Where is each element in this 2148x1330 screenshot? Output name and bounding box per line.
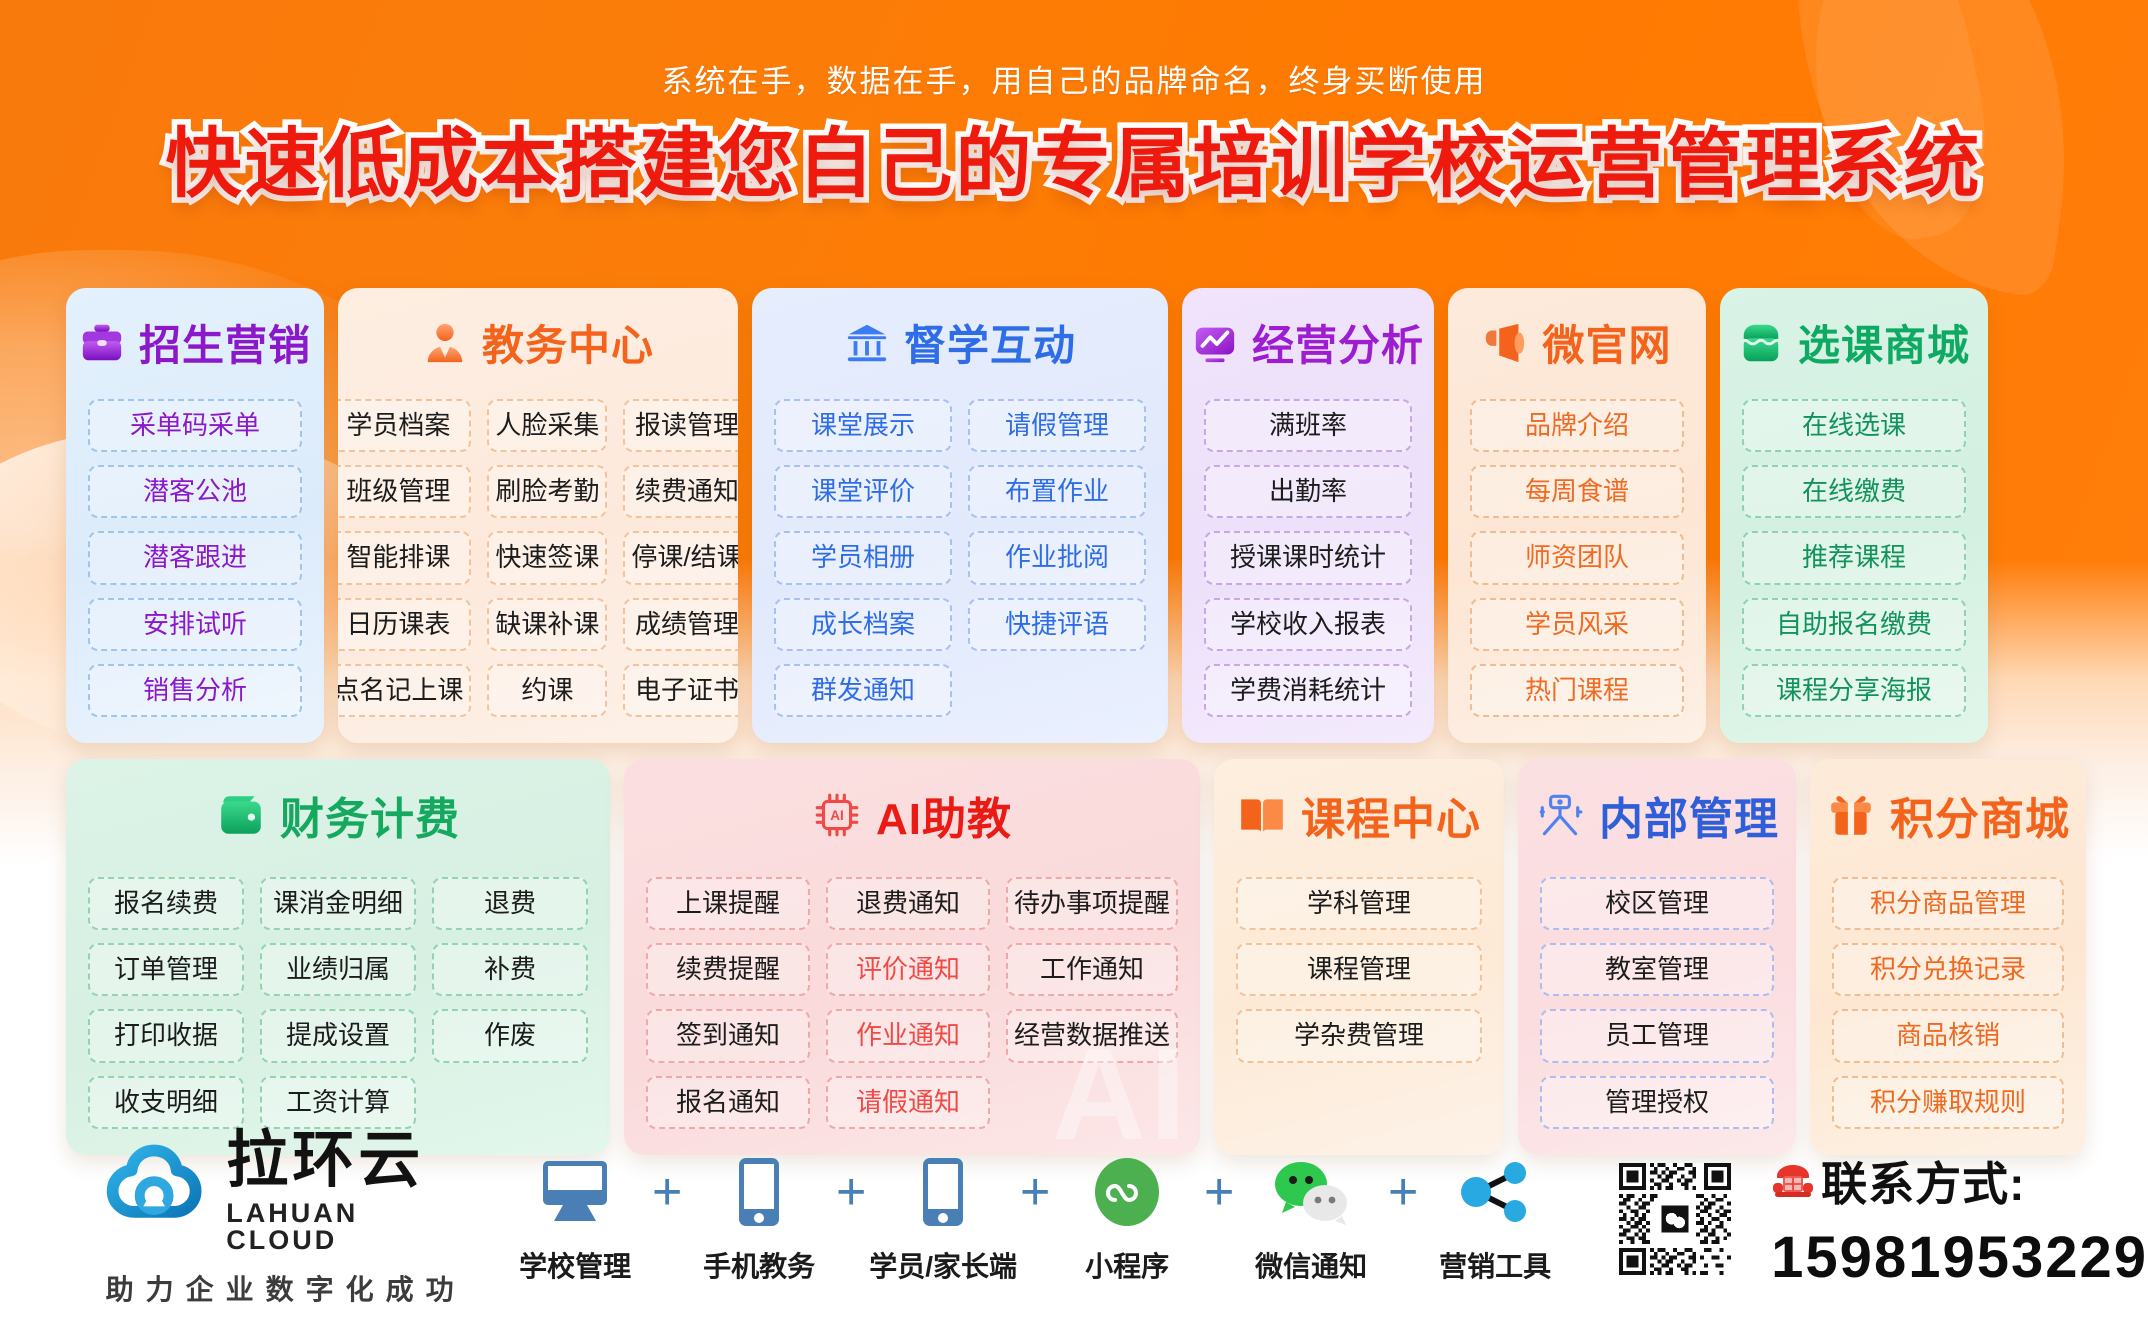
feature-chip[interactable]: 校区管理 (1540, 877, 1774, 930)
feature-chip[interactable]: 课堂展示 (774, 399, 952, 452)
card-column: 上课提醒 续费提醒 签到通知 报名通知 (646, 877, 810, 1129)
teacher-icon (422, 320, 468, 366)
chart-icon (1192, 320, 1238, 366)
platform-label: 微信通知 (1255, 1245, 1367, 1285)
card-academic[interactable]: 教务中心 学员档案 班级管理 智能排课 日历课表 点名记上课 人脸采集 刷脸考勤… (338, 288, 738, 743)
card-recruit[interactable]: 招生营销 采单码采单 潜客公池 潜客跟进 安排试听 销售分析 (66, 288, 324, 743)
card-columns: 满班率 出勤率 授课课时统计 学校收入报表 学费消耗统计 (1204, 399, 1412, 717)
feature-chip[interactable]: 学员相册 (774, 531, 952, 584)
contact-text: 联系方式: 15981953229 (1771, 1148, 2148, 1291)
platform-item-wechat-notify: 微信通知 (1247, 1153, 1375, 1285)
platform-item-student-parent: 学员/家长端 (879, 1153, 1007, 1285)
card-column: 积分商品管理 积分兑换记录 商品核销 积分赚取规则 (1832, 877, 2064, 1129)
card-columns: 课堂展示 课堂评价 学员相册 成长档案 群发通知 请假管理 布置作业 作业批阅 … (774, 399, 1146, 717)
feature-chip[interactable]: 作废 (432, 1009, 588, 1062)
feature-chip[interactable]: 退费 (432, 877, 588, 930)
card-column: 待办事项提醒 工作通知 经营数据推送 (1006, 877, 1178, 1129)
telephone-icon (1771, 1159, 1815, 1203)
poster-root: 系统在手，数据在手，用自己的品牌命名，终身买断使用 快速低成本搭建您自己的专属培… (0, 0, 2148, 1330)
feature-chip[interactable]: 积分商品管理 (1832, 877, 2064, 930)
phone-icon (737, 1153, 781, 1231)
feature-chip[interactable]: 约课 (487, 664, 607, 717)
feature-chip[interactable]: 学杂费管理 (1236, 1009, 1482, 1062)
card-columns: 校区管理 教室管理 员工管理 管理授权 (1540, 877, 1774, 1129)
card-title: 督学互动 (904, 312, 1076, 373)
header-title: 快速低成本搭建您自己的专属培训学校运营管理系统 (0, 123, 2148, 207)
platform-label: 学员/家长端 (869, 1245, 1017, 1285)
feature-chip[interactable]: 人脸采集 (487, 399, 607, 452)
brand-block: 拉环云 LAHUAN CLOUD 助力企业数字化成功 (100, 1130, 471, 1308)
card-columns: 品牌介绍 每周食谱 师资团队 学员风采 热门课程 (1470, 399, 1684, 717)
card-column: 学科管理 课程管理 学杂费管理 (1236, 877, 1482, 1129)
feature-chip[interactable]: 布置作业 (968, 465, 1146, 518)
feature-chip[interactable]: 成绩管理 (623, 598, 738, 651)
card-course-center[interactable]: 课程中心 学科管理 课程管理 学杂费管理 (1214, 759, 1504, 1155)
feature-chip[interactable]: 商品核销 (1832, 1009, 2064, 1062)
platform-label: 学校管理 (519, 1245, 631, 1285)
feature-chip[interactable]: 续费通知 (623, 465, 738, 518)
card-header: 微官网 (1470, 312, 1684, 373)
feature-chip[interactable]: 员工管理 (1540, 1009, 1774, 1062)
card-title: 微官网 (1542, 312, 1671, 373)
feature-chip[interactable]: 课堂评价 (774, 465, 952, 518)
platform-item-school-management: 学校管理 (511, 1153, 639, 1285)
book-icon (1237, 790, 1287, 840)
card-columns: 采单码采单 潜客公池 潜客跟进 安排试听 销售分析 (88, 399, 302, 717)
brand-text: 拉环云 LAHUAN CLOUD (226, 1130, 471, 1254)
feature-chip[interactable]: 销售分析 (88, 664, 302, 717)
feature-chip[interactable]: 评价通知 (826, 943, 990, 996)
feature-chip[interactable]: 在线缴费 (1742, 465, 1966, 518)
feature-chip[interactable]: 在线选课 (1742, 399, 1966, 452)
card-columns: 积分商品管理 积分兑换记录 商品核销 积分赚取规则 (1832, 877, 2064, 1129)
feature-chip[interactable]: 学科管理 (1236, 877, 1482, 930)
feature-chip[interactable]: 热门课程 (1470, 664, 1684, 717)
share-icon (1457, 1153, 1533, 1231)
card-column: 品牌介绍 每周食谱 师资团队 学员风采 热门课程 (1470, 399, 1684, 717)
wechat-qr-code[interactable] (1619, 1163, 1731, 1275)
card-columns: 上课提醒 续费提醒 签到通知 报名通知 退费通知 评价通知 作业通知 请假通知 … (646, 877, 1178, 1129)
card-header: 督学互动 (774, 312, 1146, 373)
feature-chip[interactable]: 课程分享海报 (1742, 664, 1966, 717)
brand-name-cn: 拉环云 (226, 1130, 471, 1192)
card-header: 财务计费 (88, 783, 588, 847)
gift-icon (1826, 790, 1876, 840)
feature-chip[interactable]: 作业通知 (826, 1009, 990, 1062)
card-analytics[interactable]: 经营分析 满班率 出勤率 授课课时统计 学校收入报表 学费消耗统计 (1182, 288, 1434, 743)
card-header: 内部管理 (1540, 783, 1774, 847)
feature-chip[interactable]: 积分兑换记录 (1832, 943, 2064, 996)
feature-chip[interactable]: 退费通知 (826, 877, 990, 930)
feature-chip[interactable]: 班级管理 (338, 465, 471, 518)
card-title: 经营分析 (1252, 312, 1424, 373)
megaphone-icon (1482, 320, 1528, 366)
feature-chip[interactable]: 请假管理 (968, 399, 1146, 452)
card-title: AI助教 (876, 783, 1012, 847)
card-columns: 在线选课 在线缴费 推荐课程 自助报名缴费 课程分享海报 (1742, 399, 1966, 717)
poster-footer: 拉环云 LAHUAN CLOUD 助力企业数字化成功 学校管理 + (0, 1108, 2148, 1330)
feature-chip[interactable]: 授课课时统计 (1204, 531, 1412, 584)
feature-chip[interactable]: 作业批阅 (968, 531, 1146, 584)
card-title: 积分商城 (1890, 783, 2070, 847)
feature-chip[interactable]: 群发通知 (774, 664, 952, 717)
platform-item-mobile-academic: 手机教务 (695, 1153, 823, 1285)
card-header: 选课商城 (1742, 312, 1966, 373)
feature-chip[interactable]: 潜客公池 (88, 465, 302, 518)
feature-chip[interactable]: 教室管理 (1540, 943, 1774, 996)
feature-chip[interactable]: 经营数据推送 (1006, 1009, 1178, 1062)
card-column: 学员档案 班级管理 智能排课 日历课表 点名记上课 (338, 399, 471, 717)
desktop-icon (538, 1153, 612, 1231)
card-header: 招生营销 (88, 312, 302, 373)
bank-icon (844, 320, 890, 366)
platform-item-miniprogram: 小程序 (1063, 1153, 1191, 1285)
platform-label: 手机教务 (703, 1245, 815, 1285)
feature-chip[interactable]: 补费 (432, 943, 588, 996)
card-row-2: 财务计费 报名续费 订单管理 打印收据 收支明细 课消金明细 业绩归属 提成设置… (66, 759, 2084, 1155)
plus-separator: + (1007, 1153, 1063, 1231)
card-supervision[interactable]: 督学互动 课堂展示 课堂评价 学员相册 成长档案 群发通知 请假管理 布置作业 … (752, 288, 1168, 743)
feature-chip[interactable]: 续费提醒 (646, 943, 810, 996)
wechat-icon (1270, 1153, 1352, 1231)
feature-chip[interactable]: 学费消耗统计 (1204, 664, 1412, 717)
feature-chip[interactable]: 上课提醒 (646, 877, 810, 930)
plus-separator: + (1191, 1153, 1247, 1231)
feature-chip[interactable]: 课程管理 (1236, 943, 1482, 996)
feature-chip[interactable]: 提成设置 (260, 1009, 416, 1062)
ai-chip-icon: AI (812, 790, 862, 840)
card-finance[interactable]: 财务计费 报名续费 订单管理 打印收据 收支明细 课消金明细 业绩归属 提成设置… (66, 759, 610, 1155)
plus-separator: + (1375, 1153, 1431, 1231)
feature-chip[interactable]: 电子证书 (623, 664, 738, 717)
card-header: 经营分析 (1204, 312, 1412, 373)
card-header: 教务中心 (360, 312, 716, 373)
feature-chip[interactable]: 打印收据 (88, 1009, 244, 1062)
contact-block: 联系方式: 15981953229 (1619, 1148, 2148, 1291)
feature-chip[interactable]: 采单码采单 (88, 399, 302, 452)
feature-chip[interactable]: 快速签课 (487, 531, 607, 584)
feature-chip[interactable]: 学校收入报表 (1204, 598, 1412, 651)
platform-item-marketing-tools: 营销工具 (1431, 1153, 1559, 1285)
card-title: 课程中心 (1301, 783, 1481, 847)
card-column: 满班率 出勤率 授课课时统计 学校收入报表 学费消耗统计 (1204, 399, 1412, 717)
feature-chip[interactable]: 学员档案 (338, 399, 471, 452)
feature-chip[interactable]: 自助报名缴费 (1742, 598, 1966, 651)
plus-separator: + (639, 1153, 695, 1231)
card-column: 退费通知 评价通知 作业通知 请假通知 (826, 877, 990, 1129)
contact-phone[interactable]: 15981953229 (1771, 1224, 2148, 1291)
contact-label-line: 联系方式: (1771, 1148, 2148, 1214)
phone-icon (921, 1153, 965, 1231)
card-microsite[interactable]: 微官网 品牌介绍 每周食谱 师资团队 学员风采 热门课程 (1448, 288, 1706, 743)
org-chart-icon (1535, 790, 1585, 840)
card-points-mall[interactable]: 积分商城 积分商品管理 积分兑换记录 商品核销 积分赚取规则 (1810, 759, 2086, 1155)
card-column: 校区管理 教室管理 员工管理 管理授权 (1540, 877, 1774, 1129)
card-column: 人脸采集 刷脸考勤 快速签课 缺课补课 约课 (487, 399, 607, 717)
card-column: 请假管理 布置作业 作业批阅 快捷评语 (968, 399, 1146, 717)
card-title: 财务计费 (280, 783, 460, 847)
platform-label: 小程序 (1085, 1245, 1169, 1285)
briefcase-icon (79, 320, 125, 366)
feature-chip[interactable]: 课消金明细 (260, 877, 416, 930)
brand-row: 拉环云 LAHUAN CLOUD (100, 1130, 471, 1254)
card-header: 课程中心 (1236, 783, 1482, 847)
card-title: 选课商城 (1798, 312, 1970, 373)
plus-separator: + (823, 1153, 879, 1231)
card-header: 积分商城 (1832, 783, 2064, 847)
card-column: 课堂展示 课堂评价 学员相册 成长档案 群发通知 (774, 399, 952, 717)
poster-header: 系统在手，数据在手，用自己的品牌命名，终身买断使用 快速低成本搭建您自己的专属培… (0, 0, 2148, 207)
feature-chip[interactable]: 待办事项提醒 (1006, 877, 1178, 930)
feature-chip[interactable]: 停课/结课 (623, 531, 738, 584)
card-shop[interactable]: 选课商城 在线选课 在线缴费 推荐课程 自助报名缴费 课程分享海报 (1720, 288, 1988, 743)
feature-card-grid: 招生营销 采单码采单 潜客公池 潜客跟进 安排试听 销售分析 (66, 288, 2084, 1155)
wallet-icon (216, 790, 266, 840)
feature-chip[interactable]: 师资团队 (1470, 531, 1684, 584)
feature-chip[interactable]: 推荐课程 (1742, 531, 1966, 584)
feature-chip[interactable]: 工作通知 (1006, 943, 1178, 996)
feature-chip[interactable]: 日历课表 (338, 598, 471, 651)
card-internal-management[interactable]: 内部管理 校区管理 教室管理 员工管理 管理授权 (1518, 759, 1796, 1155)
feature-chip[interactable]: 快捷评语 (968, 598, 1146, 651)
card-columns: 报名续费 订单管理 打印收据 收支明细 课消金明细 业绩归属 提成设置 工资计算… (88, 877, 588, 1129)
feature-chip[interactable]: 订单管理 (88, 943, 244, 996)
feature-chip[interactable]: 品牌介绍 (1470, 399, 1684, 452)
card-columns: 学员档案 班级管理 智能排课 日历课表 点名记上课 人脸采集 刷脸考勤 快速签课… (360, 399, 716, 717)
feature-chip[interactable]: 智能排课 (338, 531, 471, 584)
feature-chip[interactable]: 每周食谱 (1470, 465, 1684, 518)
card-row-1: 招生营销 采单码采单 潜客公池 潜客跟进 安排试听 销售分析 (66, 288, 2084, 743)
feature-chip[interactable]: 签到通知 (646, 1009, 810, 1062)
card-ai-assistant[interactable]: AI AI AI助教 上课提醒 续费提醒 (624, 759, 1200, 1155)
card-column: 报名续费 订单管理 打印收据 收支明细 (88, 877, 244, 1129)
card-title: 招生营销 (139, 312, 311, 373)
feature-chip[interactable]: 学员风采 (1470, 598, 1684, 651)
card-column: 课消金明细 业绩归属 提成设置 工资计算 (260, 877, 416, 1129)
platform-label: 营销工具 (1439, 1245, 1551, 1285)
feature-chip[interactable]: 报名续费 (88, 877, 244, 930)
contact-label: 联系方式: (1821, 1148, 2025, 1214)
svg-text:AI: AI (830, 808, 844, 823)
card-header: AI AI助教 (646, 783, 1178, 847)
feature-chip[interactable]: 出勤率 (1204, 465, 1412, 518)
feature-chip[interactable]: 缺课补课 (487, 598, 607, 651)
feature-chip[interactable]: 满班率 (1204, 399, 1412, 452)
card-title: 教务中心 (482, 312, 654, 373)
brand-tagline: 助力企业数字化成功 (106, 1268, 466, 1308)
platform-list: 学校管理 + 手机教务 + (511, 1153, 1559, 1285)
feature-chip[interactable]: 报读管理 (623, 399, 738, 452)
feature-chip[interactable]: 安排试听 (88, 598, 302, 651)
feature-chip[interactable]: 潜客跟进 (88, 531, 302, 584)
card-columns: 学科管理 课程管理 学杂费管理 (1236, 877, 1482, 1129)
card-column: 退费 补费 作废 (432, 877, 588, 1129)
feature-chip[interactable]: 业绩归属 (260, 943, 416, 996)
brand-name-en: LAHUAN CLOUD (226, 1200, 471, 1254)
feature-chip[interactable]: 点名记上课 (338, 664, 471, 717)
card-column: 在线选课 在线缴费 推荐课程 自助报名缴费 课程分享海报 (1742, 399, 1966, 717)
feature-chip[interactable]: 刷脸考勤 (487, 465, 607, 518)
storefront-icon (1738, 320, 1784, 366)
card-title: 内部管理 (1599, 783, 1779, 847)
feature-chip[interactable]: 成长档案 (774, 598, 952, 651)
card-column: 采单码采单 潜客公池 潜客跟进 安排试听 销售分析 (88, 399, 302, 717)
header-subtitle: 系统在手，数据在手，用自己的品牌命名，终身买断使用 (0, 56, 2148, 101)
miniprogram-icon (1091, 1153, 1163, 1231)
lahuan-cloud-logo-icon (100, 1142, 208, 1242)
card-column: 报读管理 续费通知 停课/结课 成绩管理 电子证书 (623, 399, 738, 717)
